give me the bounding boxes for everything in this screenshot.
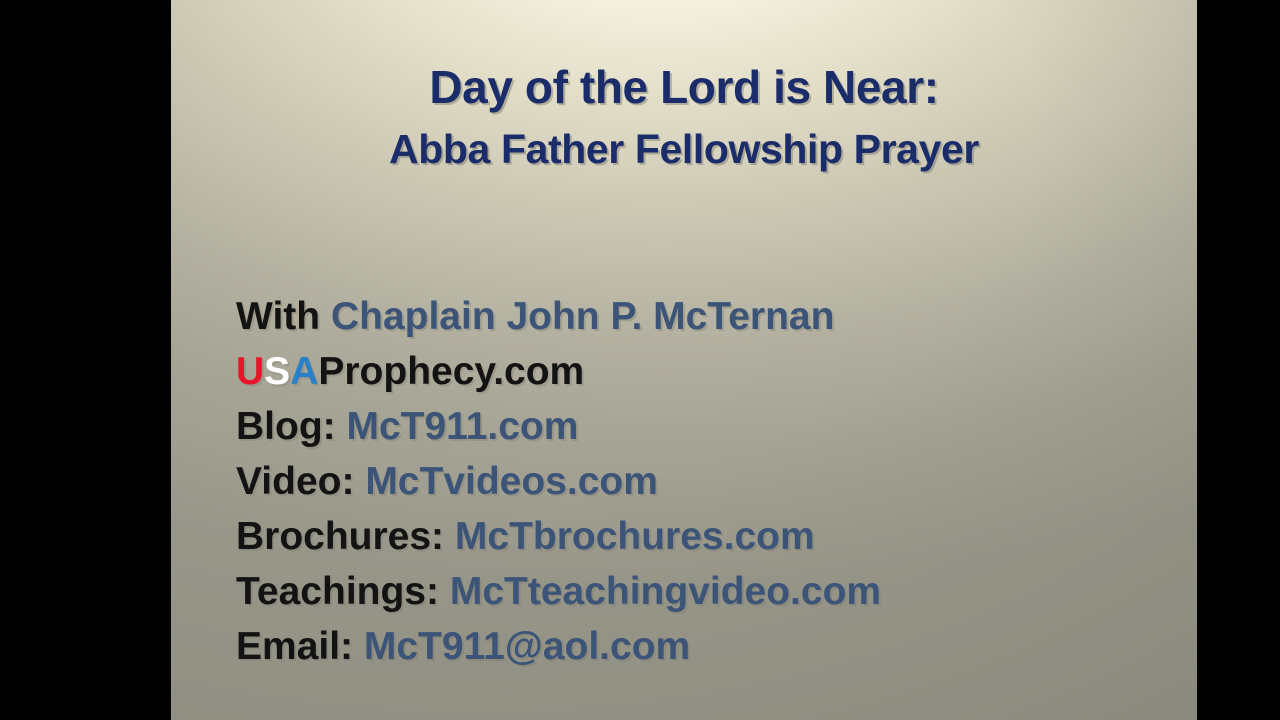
slide-title-block: Day of the Lord is Near: Abba Father Fel…	[171, 64, 1197, 170]
body-line-email[interactable]: Email: McT911@aol.com	[236, 619, 1176, 674]
blog-label: Blog:	[236, 405, 346, 448]
brochures-label: Brochures:	[236, 515, 455, 558]
usa-letter-a: A	[290, 350, 318, 393]
host-label: With	[236, 295, 331, 338]
email-label: Email:	[236, 625, 364, 668]
video-label: Video:	[236, 460, 365, 503]
teachings-url[interactable]: McTteachingvideo.com	[450, 570, 881, 613]
teachings-label: Teachings:	[236, 570, 450, 613]
blog-url[interactable]: McT911.com	[346, 405, 578, 448]
pillarbox-right	[1197, 0, 1280, 720]
slide-title-line-1: Day of the Lord is Near:	[171, 64, 1197, 110]
pillarbox-left	[0, 0, 171, 720]
slide-body-block: With Chaplain John P. McTernan USAProphe…	[236, 289, 1176, 674]
body-line-host: With Chaplain John P. McTernan	[236, 289, 1176, 344]
video-url[interactable]: McTvideos.com	[365, 460, 658, 503]
slide-title-line-2: Abba Father Fellowship Prayer	[171, 129, 1197, 170]
usa-letter-u: U	[236, 350, 264, 393]
body-line-brochures[interactable]: Brochures: McTbrochures.com	[236, 509, 1176, 564]
body-line-video[interactable]: Video: McTvideos.com	[236, 454, 1176, 509]
brochures-url[interactable]: McTbrochures.com	[455, 515, 815, 558]
usa-letter-s: S	[264, 350, 290, 393]
body-line-blog[interactable]: Blog: McT911.com	[236, 399, 1176, 454]
website-domain: Prophecy.com	[318, 350, 584, 393]
host-name: Chaplain John P. McTernan	[331, 295, 834, 338]
email-address[interactable]: McT911@aol.com	[364, 625, 690, 668]
slide-canvas: Day of the Lord is Near: Abba Father Fel…	[171, 0, 1197, 720]
body-line-website[interactable]: USAProphecy.com	[236, 344, 1176, 399]
slide-root: Day of the Lord is Near: Abba Father Fel…	[0, 0, 1280, 720]
body-line-teachings[interactable]: Teachings: McTteachingvideo.com	[236, 564, 1176, 619]
